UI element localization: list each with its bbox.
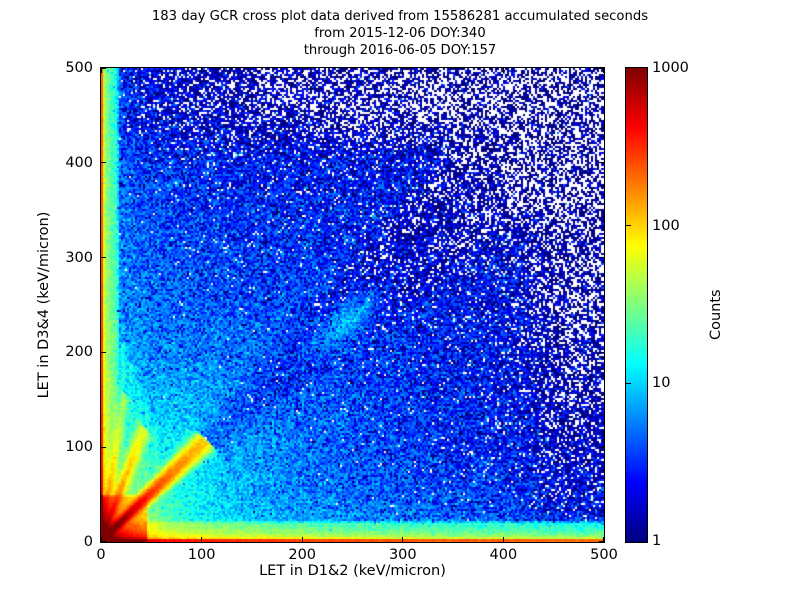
heatmap-scatter-canvas [101, 68, 604, 542]
x-axis-ticklabel: 100 [188, 547, 216, 563]
figure-canvas: 183 day GCR cross plot data derived from… [0, 0, 800, 600]
plot-axes-area [100, 67, 605, 543]
y-axis-tick [101, 541, 106, 542]
chart-title: 183 day GCR cross plot data derived from… [0, 8, 800, 59]
y-axis-label: LET in D3&4 (keV/micron) [36, 67, 52, 543]
x-axis-tick [302, 68, 303, 73]
x-axis-tick [402, 537, 403, 542]
x-axis-ticklabel: 500 [590, 547, 618, 563]
x-axis-ticklabel: 300 [389, 547, 417, 563]
y-axis-tick [599, 447, 604, 448]
y-axis-tick [101, 447, 106, 448]
y-axis-tick [101, 162, 106, 163]
x-axis-tick [402, 68, 403, 73]
y-axis-tick [599, 352, 604, 353]
colorbar-gradient [626, 68, 647, 542]
x-axis-label: LET in D1&2 (keV/micron) [100, 563, 605, 579]
x-axis-tick [503, 537, 504, 542]
colorbar-ticklabel: 100 [652, 218, 680, 234]
colorbar-ticklabel: 1000 [652, 60, 689, 76]
y-axis-tick [101, 352, 106, 353]
y-axis-tick [599, 162, 604, 163]
x-axis-tick [503, 68, 504, 73]
colorbar-ticklabel: 1 [652, 533, 661, 549]
colorbar-tick [626, 383, 631, 384]
x-axis-tick [201, 68, 202, 73]
x-axis-ticklabel: 0 [96, 547, 105, 563]
chart-title-line-3: through 2016-06-05 DOY:157 [0, 42, 800, 59]
x-axis-tick [201, 537, 202, 542]
x-axis-tick [100, 68, 101, 73]
x-axis-tick [603, 68, 604, 73]
y-axis-tick [599, 541, 604, 542]
y-axis-tick [101, 257, 106, 258]
y-axis-tick [599, 257, 604, 258]
x-axis-tick [302, 537, 303, 542]
colorbar [625, 67, 648, 543]
y-axis-tick [101, 67, 106, 68]
chart-title-line-1: 183 day GCR cross plot data derived from… [0, 8, 800, 25]
x-axis-ticklabel: 200 [288, 547, 316, 563]
chart-title-line-2: from 2015-12-06 DOY:340 [0, 25, 800, 42]
x-axis-ticklabel: 400 [490, 547, 518, 563]
colorbar-tick [626, 225, 631, 226]
colorbar-label: Counts [708, 289, 724, 340]
y-axis-tick [599, 67, 604, 68]
colorbar-ticklabel: 10 [652, 375, 670, 391]
